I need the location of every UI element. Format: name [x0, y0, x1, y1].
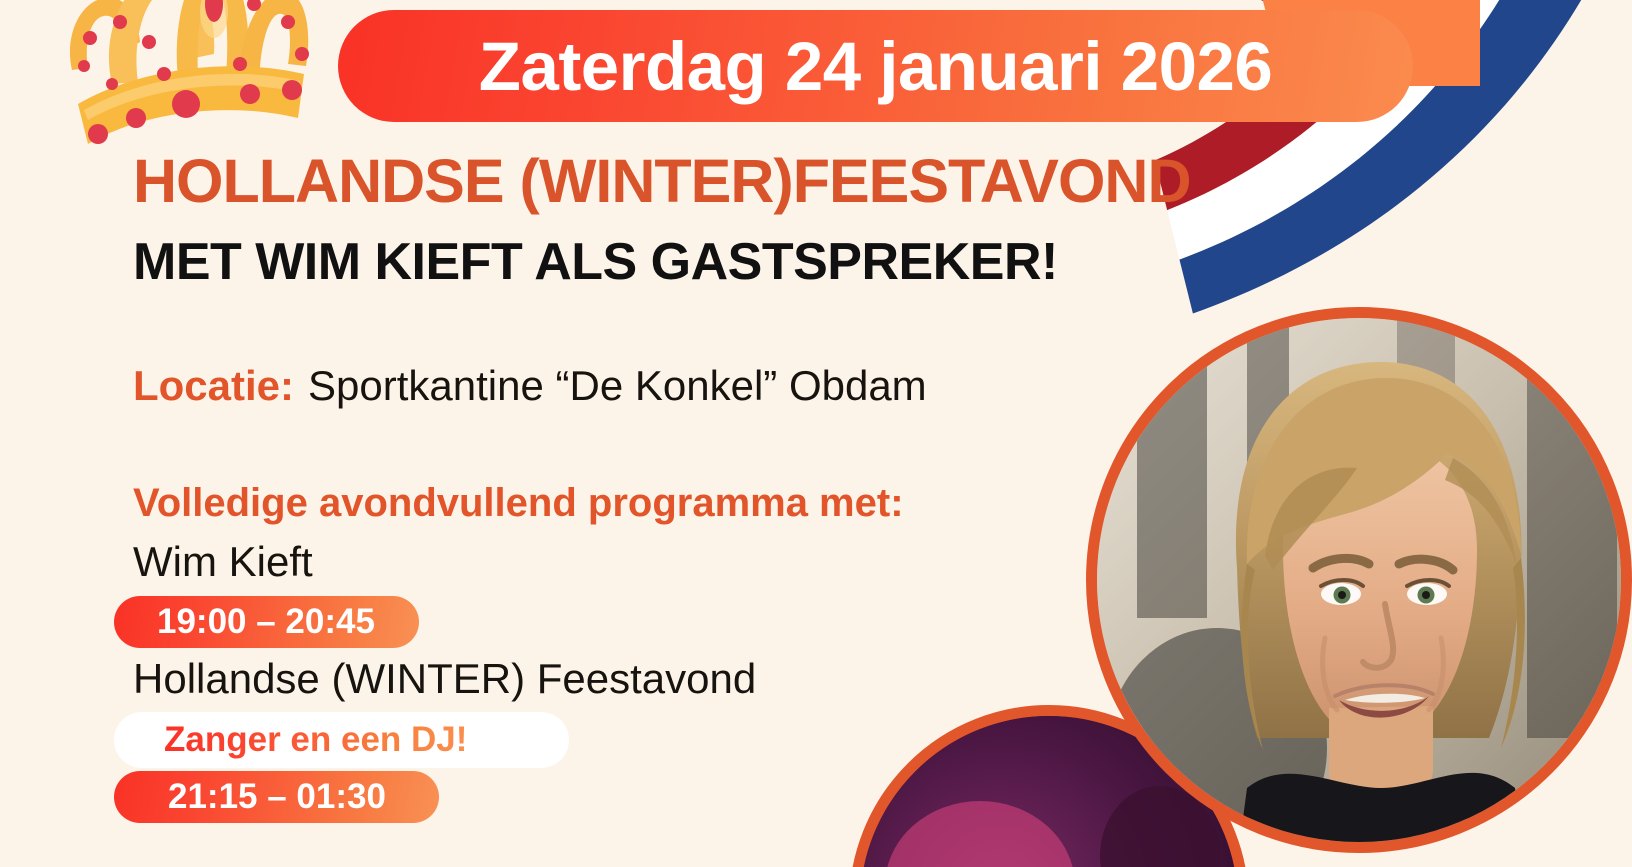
location-row: Locatie: Sportkantine “De Konkel” Obdam: [133, 362, 927, 410]
programme-time-badge-2-text: 21:15 – 01:30: [168, 777, 386, 817]
date-banner-text: Zaterdag 24 januari 2026: [479, 27, 1272, 106]
programme-item-title-1: Wim Kieft: [133, 538, 313, 586]
wim-kieft-portrait: [1086, 307, 1632, 853]
location-label: Locatie:: [133, 362, 294, 410]
programme-note-badge-text: Zanger en een DJ!: [164, 720, 467, 760]
date-banner: Zaterdag 24 januari 2026: [338, 10, 1413, 122]
programme-item-title-2: Hollandse (WINTER) Feestavond: [133, 655, 756, 703]
poster-canvas: Zaterdag 24 januari 2026 HOLLANDSE (WINT…: [0, 0, 1632, 867]
page-title: HOLLANDSE (WINTER)FEESTAVOND: [133, 146, 1191, 216]
programme-time-badge-1: 19:00 – 20:45: [114, 596, 419, 648]
programme-time-badge-2: 21:15 – 01:30: [114, 771, 439, 823]
page-subtitle: MET WIM KIEFT ALS GASTSPREKER!: [133, 232, 1058, 292]
programme-time-badge-1-text: 19:00 – 20:45: [157, 602, 375, 642]
programme-heading: Volledige avondvullend programma met:: [133, 481, 904, 526]
location-value: Sportkantine “De Konkel” Obdam: [308, 362, 927, 410]
programme-note-badge: Zanger en een DJ!: [114, 712, 569, 768]
crown-icon: [54, 0, 318, 148]
